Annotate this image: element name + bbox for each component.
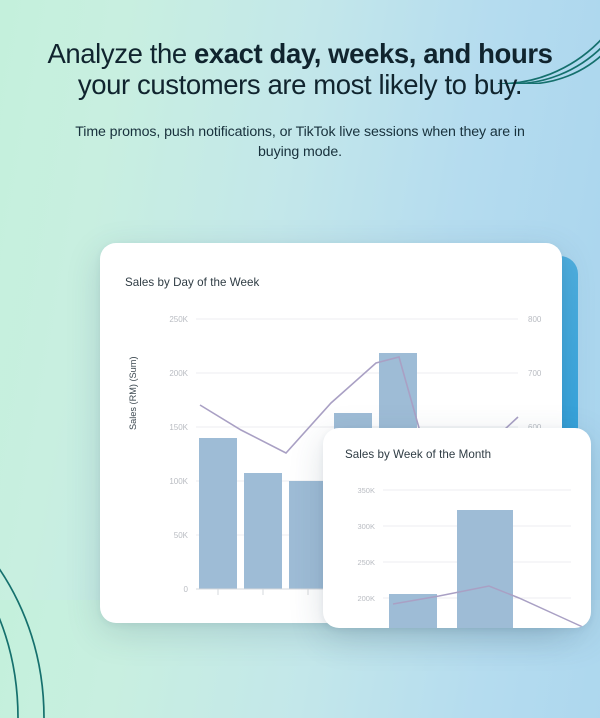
y-axis-left-ticks: 350K 300K 250K 200K: [357, 486, 375, 603]
svg-text:800: 800: [528, 315, 542, 324]
bar-series: [389, 510, 513, 628]
svg-text:0: 0: [184, 585, 189, 594]
svg-text:150K: 150K: [169, 423, 188, 432]
svg-text:200K: 200K: [357, 594, 375, 603]
chart-title-week-of-month: Sales by Week of the Month: [345, 448, 491, 461]
svg-text:200K: 200K: [169, 369, 188, 378]
y-axis-title-day-of-week: Sales (RM) (Sum): [128, 356, 138, 430]
dashboard-preview: Sales by Day of the Week 250K 200K 150K …: [0, 0, 600, 600]
chart-svg-week-of-month: 350K 300K 250K 200K: [323, 472, 591, 628]
svg-text:350K: 350K: [357, 486, 375, 495]
svg-text:300K: 300K: [357, 522, 375, 531]
y-axis-left-ticks: 250K 200K 150K 100K 50K 0: [169, 315, 188, 594]
svg-text:50K: 50K: [174, 531, 189, 540]
svg-text:100K: 100K: [169, 477, 188, 486]
svg-text:250K: 250K: [169, 315, 188, 324]
svg-text:700: 700: [528, 369, 542, 378]
svg-text:250K: 250K: [357, 558, 375, 567]
chart-title-day-of-week: Sales by Day of the Week: [125, 276, 259, 289]
chart-card-week-of-month[interactable]: Sales by Week of the Month 350K 300K 250…: [323, 428, 591, 628]
chart-plot-week-of-month[interactable]: 350K 300K 250K 200K: [323, 472, 591, 628]
